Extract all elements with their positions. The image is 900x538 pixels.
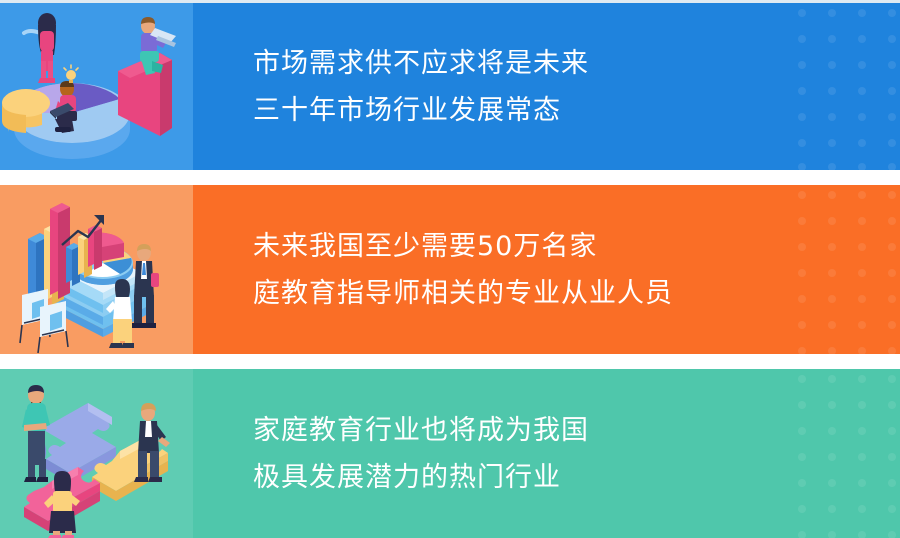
panel-text-block: 家庭教育行业也将成为我国 极具发展潜力的热门行业 (193, 369, 900, 538)
panel-practitioner-demand: 未来我国至少需要50万名家 庭教育指导师相关的专业从业人员 (0, 185, 900, 354)
isometric-bar-chart-illustration (0, 185, 193, 354)
headline-line-2: 三十年市场行业发展常态 (253, 87, 900, 134)
isometric-puzzle-illustration (0, 369, 193, 538)
panel-industry-potential: 家庭教育行业也将成为我国 极具发展潜力的热门行业 (0, 369, 900, 538)
infographic-stage: 市场需求供不应求将是未来 三十年市场行业发展常态 (0, 0, 900, 538)
panel-market-demand: 市场需求供不应求将是未来 三十年市场行业发展常态 (0, 3, 900, 170)
headline-line-1: 家庭教育行业也将成为我国 (253, 407, 900, 454)
isometric-pie-chart-illustration (0, 3, 193, 170)
headline-line-1: 市场需求供不应求将是未来 (253, 40, 900, 87)
panel-text-block: 市场需求供不应求将是未来 三十年市场行业发展常态 (193, 3, 900, 170)
headline-line-2: 极具发展潜力的热门行业 (253, 454, 900, 501)
headline-line-2: 庭教育指导师相关的专业从业人员 (253, 270, 900, 317)
panel-text-block: 未来我国至少需要50万名家 庭教育指导师相关的专业从业人员 (193, 185, 900, 354)
headline-line-1: 未来我国至少需要50万名家 (253, 223, 900, 270)
